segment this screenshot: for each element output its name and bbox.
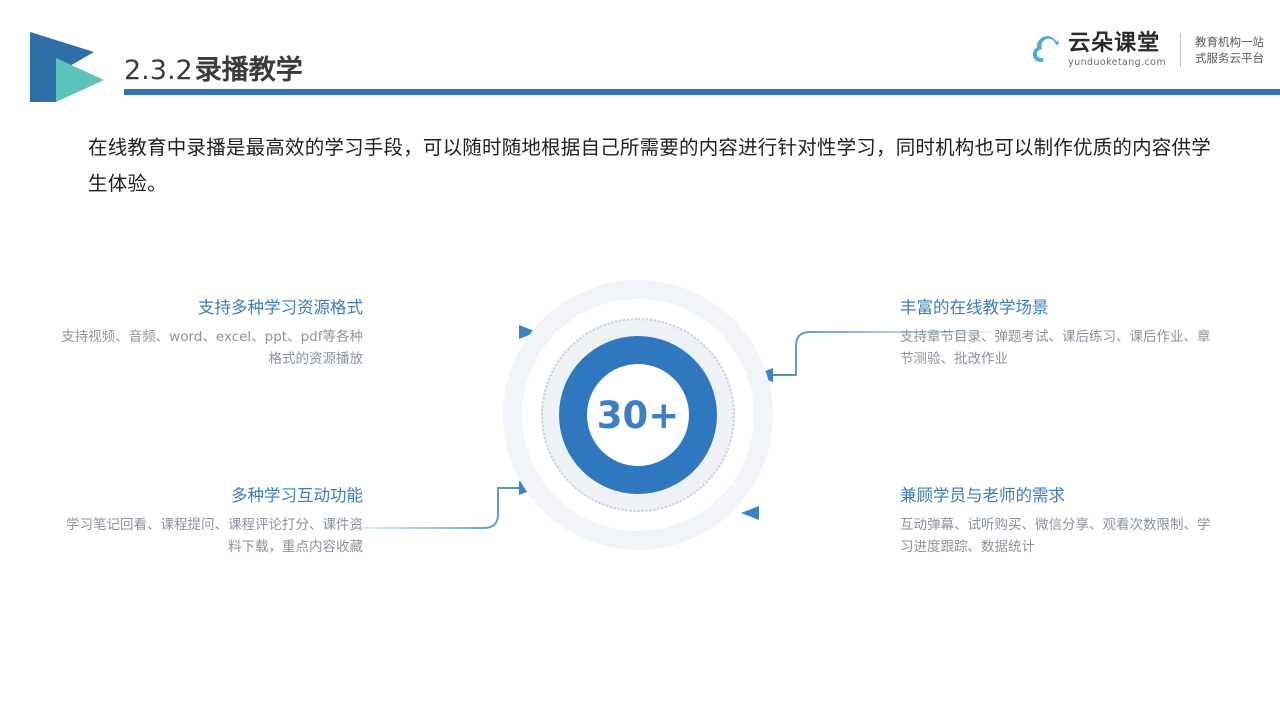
page-title: 2.3.2录播教学 bbox=[124, 48, 303, 87]
callout-resource-formats: 支持多种学习资源格式 支持视频、音频、word、excel、ppt、pdf等各种… bbox=[58, 297, 363, 371]
hub-and-spoke-diagram: 30+ 支持多种学习资源格式 支持视频、音频、word、excel、ppt、pd… bbox=[0, 255, 1280, 595]
callout-student-teacher-needs: 兼顾学员与老师的需求 互动弹幕、试听购买、微信分享、观看次数限制、学习进度跟踪、… bbox=[900, 485, 1220, 559]
brand-name: 云朵课堂 bbox=[1068, 33, 1166, 55]
brand-domain: yunduoketang.com bbox=[1068, 58, 1166, 68]
brand-text: 云朵课堂 yunduoketang.com bbox=[1068, 33, 1166, 68]
brand-tagline-line2: 式服务云平台 bbox=[1195, 50, 1264, 67]
callout-title: 兼顾学员与老师的需求 bbox=[900, 485, 1220, 506]
central-hub: 30+ bbox=[503, 280, 773, 550]
hub-value-label: 30+ bbox=[597, 394, 680, 437]
callout-body: 互动弹幕、试听购买、微信分享、观看次数限制、学习进度跟踪、数据统计 bbox=[900, 515, 1220, 559]
slide-root: 2.3.2录播教学 云朵课堂 yunduoketang.com 教育机构一站 式… bbox=[0, 0, 1280, 720]
callout-teaching-scenarios: 丰富的在线教学场景 支持章节目录、弹题考试、课后练习、课后作业、章节测验、批改作… bbox=[900, 297, 1220, 371]
callout-body: 学习笔记回看、课程提问、课程评论打分、课件资料下载，重点内容收藏 bbox=[58, 515, 363, 559]
hub-core: 30+ bbox=[587, 364, 689, 466]
intro-paragraph: 在线教育中录播是最高效的学习手段，可以随时随地根据自己所需要的内容进行针对性学习… bbox=[88, 130, 1218, 202]
header-underline-rule bbox=[124, 89, 1280, 95]
callout-body: 支持章节目录、弹题考试、课后练习、课后作业、章节测验、批改作业 bbox=[900, 327, 1220, 371]
play-triangle-logo-icon bbox=[26, 30, 112, 104]
cloud-icon bbox=[1031, 33, 1065, 67]
callout-title: 支持多种学习资源格式 bbox=[58, 297, 363, 318]
brand-mark: 云朵课堂 yunduoketang.com bbox=[1031, 33, 1166, 68]
brand-logo: 云朵课堂 yunduoketang.com 教育机构一站 式服务云平台 bbox=[1031, 33, 1264, 68]
callout-interactive-learning: 多种学习互动功能 学习笔记回看、课程提问、课程评论打分、课件资料下载，重点内容收… bbox=[58, 485, 363, 559]
callout-body: 支持视频、音频、word、excel、ppt、pdf等各种格式的资源播放 bbox=[58, 327, 363, 371]
callout-title: 多种学习互动功能 bbox=[58, 485, 363, 506]
section-title: 录播教学 bbox=[195, 55, 303, 86]
brand-tagline: 教育机构一站 式服务云平台 bbox=[1195, 34, 1264, 67]
brand-tagline-line1: 教育机构一站 bbox=[1195, 34, 1264, 51]
section-number: 2.3.2 bbox=[124, 55, 193, 86]
brand-divider bbox=[1180, 33, 1181, 67]
callout-title: 丰富的在线教学场景 bbox=[900, 297, 1220, 318]
